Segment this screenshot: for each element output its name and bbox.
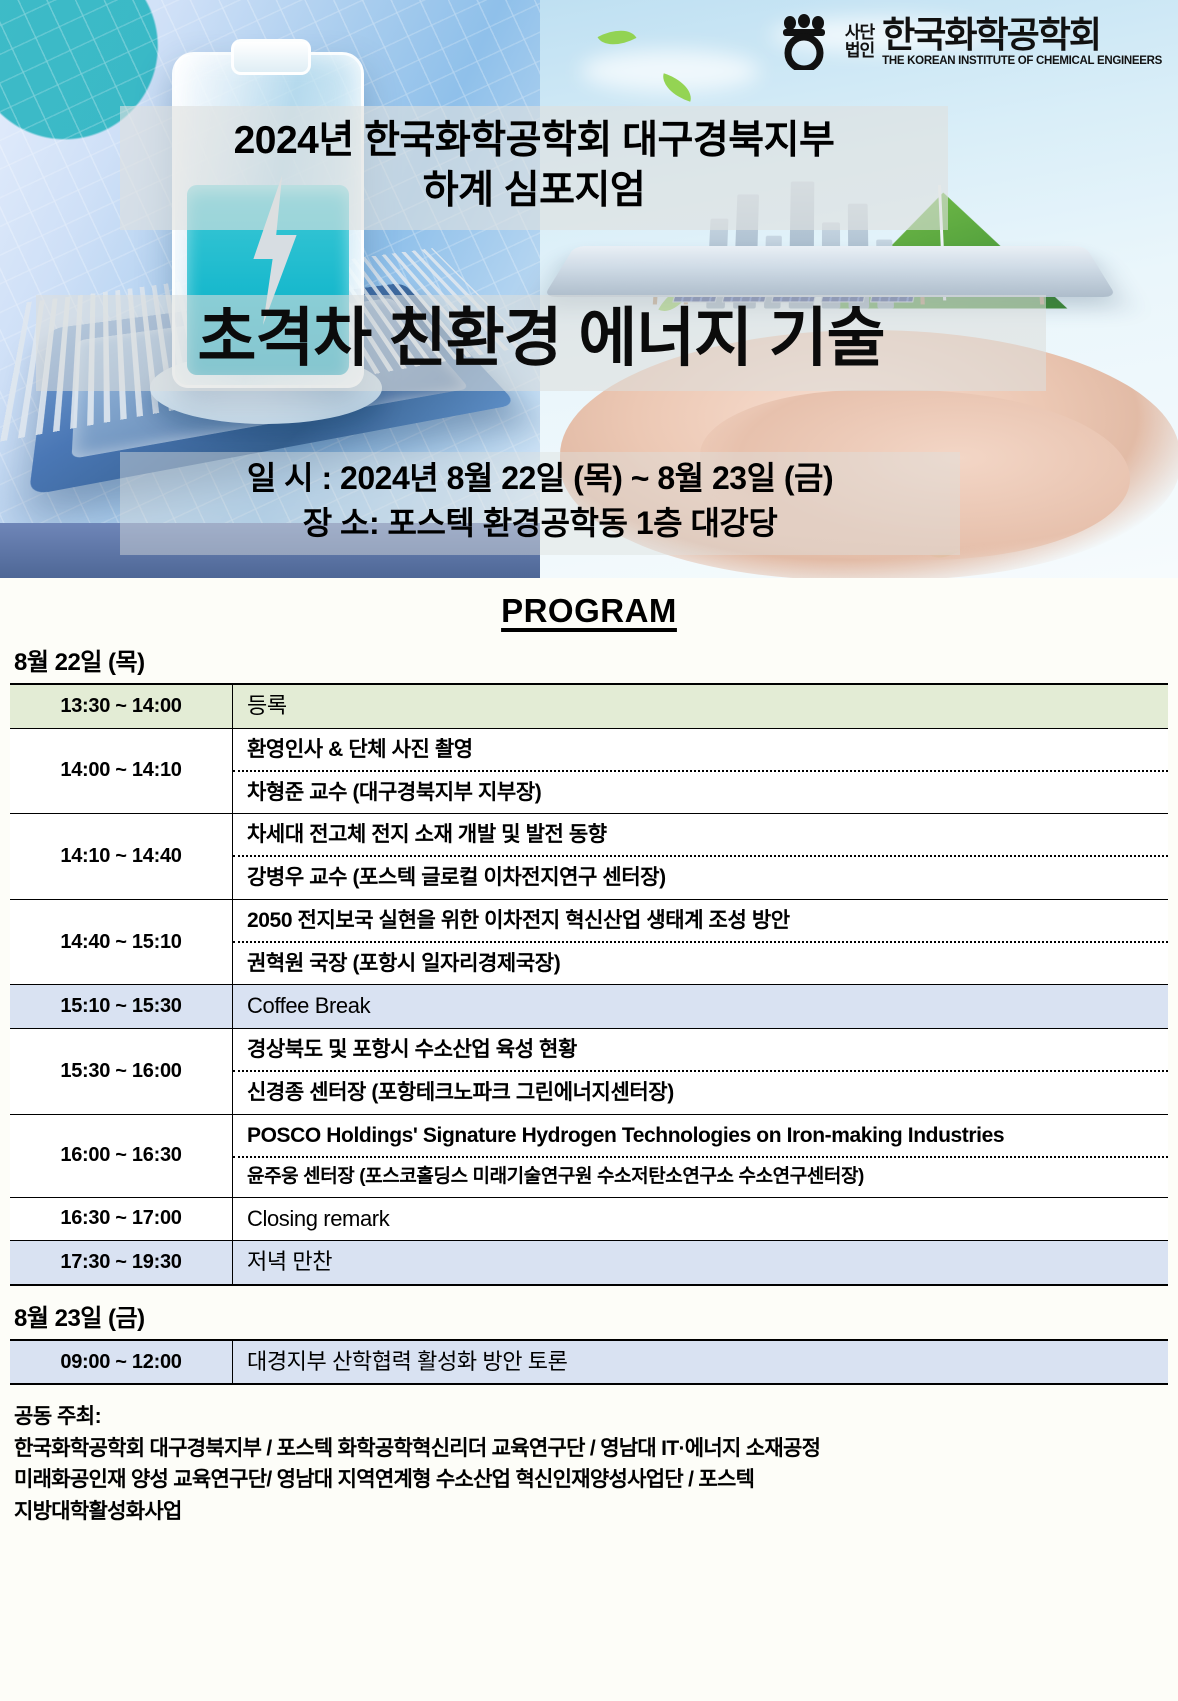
session-content: 등록 [233,684,1169,728]
session-title: POSCO Holdings' Signature Hydrogen Techn… [233,1115,1168,1156]
session-content: 대경지부 산학협력 활성화 방안 토론 [233,1340,1169,1385]
session-content: POSCO Holdings' Signature Hydrogen Techn… [233,1114,1169,1197]
poster-page: 사단 법인 한국화학공학회 THE KOREAN INSTITUTE OF CH… [0,0,1178,1701]
session-time: 14:00 ~ 14:10 [10,728,233,814]
logo-english-name: THE KOREAN INSTITUTE OF CHEMICAL ENGINEE… [882,55,1162,67]
hero-banner: 사단 법인 한국화학공학회 THE KOREAN INSTITUTE OF CH… [0,0,1178,578]
organizers-line-1: 한국화학공학회 대구경북지부 / 포스텍 화학공학혁신리더 교육연구단 / 영남… [14,1433,1178,1465]
table-row: 14:40 ~ 15:102050 전지보국 실현을 위한 이차전지 혁신산업 … [10,899,1168,985]
table-row: 09:00 ~ 12:00대경지부 산학협력 활성화 방안 토론 [10,1340,1168,1385]
organizers-line-3: 지방대학활성화사업 [14,1496,1178,1528]
session-label: Coffee Break [233,985,1168,1028]
session-content: Coffee Break [233,985,1169,1029]
table-row: 16:00 ~ 16:30POSCO Holdings' Signature H… [10,1114,1168,1197]
session-content: 환영인사 & 단체 사진 촬영차형준 교수 (대구경북지부 지부장) [233,728,1169,814]
session-content: 저녁 만찬 [233,1241,1169,1285]
session-speaker: 강병우 교수 (포스텍 글로컬 이차전지연구 센터장) [233,855,1168,898]
session-speaker: 차형준 교수 (대구경북지부 지부장) [233,770,1168,813]
kiche-emblem-icon [779,14,837,70]
logo-sadan-line2: 법인 [845,42,874,60]
session-title: 경상북도 및 포항시 수소산업 육성 현황 [233,1029,1168,1070]
table-row: 15:30 ~ 16:00경상북도 및 포항시 수소산업 육성 현황신경종 센터… [10,1028,1168,1114]
table-row: 16:30 ~ 17:00Closing remark [10,1197,1168,1241]
session-time: 15:10 ~ 15:30 [10,985,233,1029]
logo-corporate-type: 사단 법인 [845,24,874,60]
program-table: 13:30 ~ 14:00등록14:00 ~ 14:10환영인사 & 단체 사진… [10,683,1168,1286]
table-row: 15:10 ~ 15:30Coffee Break [10,985,1168,1029]
session-speaker: 윤주웅 센터장 (포스코홀딩스 미래기술연구원 수소저탄소연구소 수소연구센터장… [233,1156,1168,1197]
battery-cap-decoration [231,39,311,75]
logo-wordmark: 한국화학공학회 THE KOREAN INSTITUTE OF CHEMICAL… [882,17,1162,67]
event-title-line1: 2024년 한국화학공학회 대구경북지부 [136,116,932,166]
session-time: 16:30 ~ 17:00 [10,1197,233,1241]
organizers-line-2: 미래화공인재 양성 교육연구단/ 영남대 지역연계형 수소산업 혁신인재양성사업… [14,1464,1178,1496]
table-row: 14:00 ~ 14:10환영인사 & 단체 사진 촬영차형준 교수 (대구경북… [10,728,1168,814]
event-info-block: 일 시 : 2024년 8월 22일 (목) ~ 8월 23일 (금) 장 소:… [120,452,960,555]
organizers-footer: 공동 주최: 한국화학공학회 대구경북지부 / 포스텍 화학공학혁신리더 교육연… [14,1401,1178,1527]
session-speaker: 신경종 센터장 (포항테크노파크 그린에너지센터장) [233,1070,1168,1113]
session-content: Closing remark [233,1197,1169,1241]
program-day-heading: 8월 23일 (금) [14,1298,1178,1333]
session-time: 17:30 ~ 19:30 [10,1241,233,1285]
table-row: 17:30 ~ 19:30저녁 만찬 [10,1241,1168,1285]
event-subtitle: 초격차 친환경 에너지 기술 [36,301,1046,377]
event-venue: 장 소: 포스텍 환경공학동 1층 대강당 [120,501,960,546]
session-time: 09:00 ~ 12:00 [10,1340,233,1385]
program-schedule: 8월 22일 (목)13:30 ~ 14:00등록14:00 ~ 14:10환영… [0,642,1178,1385]
session-title: 환영인사 & 단체 사진 촬영 [233,729,1168,770]
tablet-device-decoration [543,246,1116,297]
session-content: 경상북도 및 포항시 수소산업 육성 현황신경종 센터장 (포항테크노파크 그린… [233,1028,1169,1114]
session-content: 차세대 전고체 전지 소재 개발 및 발전 동향강병우 교수 (포스텍 글로컬 … [233,814,1169,900]
logo-sadan-line1: 사단 [845,24,874,42]
program-day-heading: 8월 22일 (목) [14,642,1178,677]
event-subtitle-block: 초격차 친환경 에너지 기술 [36,295,1046,391]
organizers-heading: 공동 주최: [14,1401,1178,1433]
session-time: 15:30 ~ 16:00 [10,1028,233,1114]
session-speaker: 권혁원 국장 (포항시 일자리경제국장) [233,941,1168,984]
session-time: 14:10 ~ 14:40 [10,814,233,900]
program-heading: PROGRAM [0,592,1178,630]
session-label: Closing remark [233,1198,1168,1241]
logo-korean-name: 한국화학공학회 [882,17,1162,53]
session-label: 저녁 만찬 [233,1241,1168,1284]
session-title: 차세대 전고체 전지 소재 개발 및 발전 동향 [233,814,1168,855]
session-label: 등록 [233,685,1168,728]
session-time: 14:40 ~ 15:10 [10,899,233,985]
event-title-block: 2024년 한국화학공학회 대구경북지부 하계 심포지엄 [120,106,948,230]
session-title: 2050 전지보국 실현을 위한 이차전지 혁신산업 생태계 조성 방안 [233,900,1168,941]
session-time: 13:30 ~ 14:00 [10,684,233,728]
event-date: 일 시 : 2024년 8월 22일 (목) ~ 8월 23일 (금) [120,456,960,501]
leaf-icon [598,21,637,54]
session-label: 대경지부 산학협력 활성화 방안 토론 [233,1341,1168,1384]
event-title-line2: 하계 심포지엄 [136,166,932,216]
session-time: 16:00 ~ 16:30 [10,1114,233,1197]
table-row: 13:30 ~ 14:00등록 [10,684,1168,728]
table-row: 14:10 ~ 14:40차세대 전고체 전지 소재 개발 및 발전 동향강병우… [10,814,1168,900]
kiche-logo: 사단 법인 한국화학공학회 THE KOREAN INSTITUTE OF CH… [779,14,1162,70]
program-table: 09:00 ~ 12:00대경지부 산학협력 활성화 방안 토론 [10,1339,1168,1386]
session-content: 2050 전지보국 실현을 위한 이차전지 혁신산업 생태계 조성 방안권혁원 … [233,899,1169,985]
